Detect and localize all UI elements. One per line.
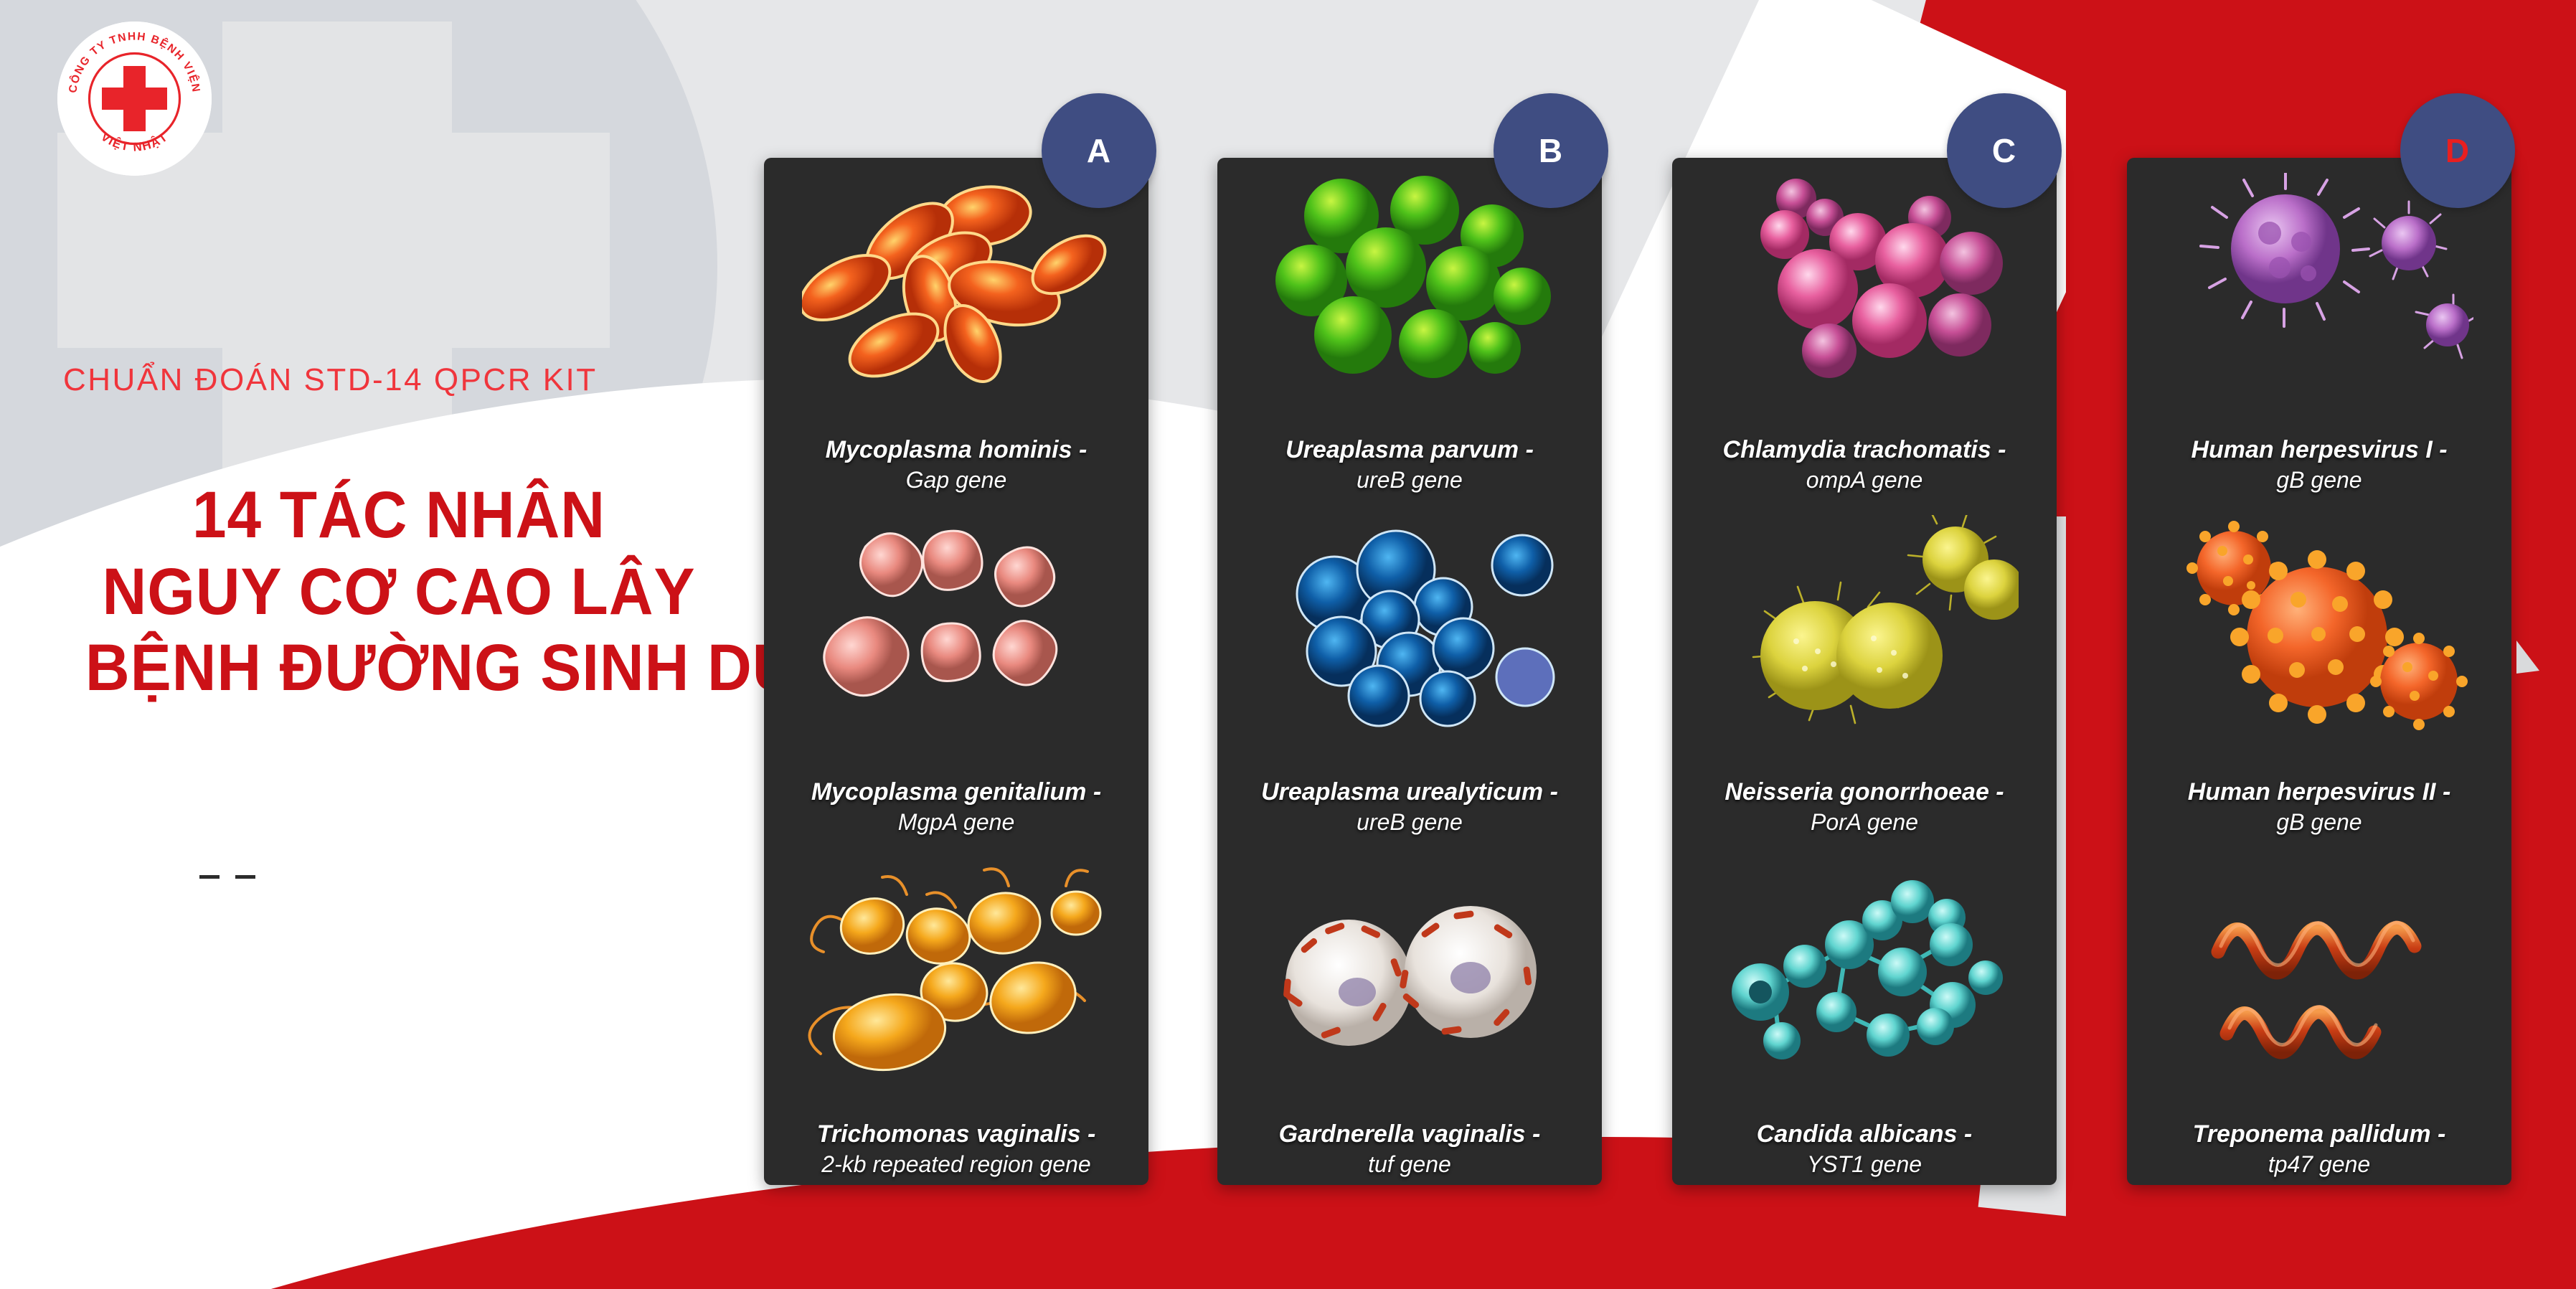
- pathogen-caption: Gardnerella vaginalis - tuf gene: [1279, 1119, 1541, 1179]
- spirochete-red-icon: [2127, 846, 2511, 1083]
- species-name: Neisseria gonorrhoeae -: [1725, 777, 2004, 808]
- species-name: Ureaplasma parvum -: [1285, 435, 1534, 466]
- species-name: Human herpesvirus I -: [2191, 435, 2447, 466]
- species-name: Mycoplasma hominis -: [826, 435, 1088, 466]
- flagellate-yellow-icon: [764, 846, 1148, 1083]
- pathogen-panel-b: Ureaplasma parvum - ureB gene: [1217, 158, 1602, 1185]
- gene-name: YST1 gene: [1757, 1150, 1972, 1179]
- pathogen-cell: Human herpesvirus II - gB gene: [2127, 500, 2511, 842]
- species-name: Treponema pallidum -: [2193, 1119, 2446, 1150]
- pathogen-caption: Ureaplasma parvum - ureB gene: [1285, 435, 1534, 494]
- gene-name: gB gene: [2188, 808, 2451, 836]
- pathogen-panel-c: Chlamydia trachomatis - ompA gene: [1672, 158, 2057, 1185]
- panel-badge-b[interactable]: B: [1494, 93, 1608, 208]
- gene-name: MgpA gene: [811, 808, 1101, 836]
- gene-name: gB gene: [2191, 466, 2447, 494]
- gene-name: ureB gene: [1285, 466, 1534, 494]
- pathogen-cell: Mycoplasma hominis - Gap gene: [764, 158, 1148, 500]
- banner-root: CÔNG TY TNHH BỆNH VIỆN VIỆT NHẬT CHUẨN Đ…: [0, 0, 2576, 1289]
- kit-subtitle: CHUẨN ĐOÁN STD-14 QPCR KIT: [63, 362, 598, 398]
- gene-name: ompA gene: [1723, 466, 2006, 494]
- diplococci-yellow-icon: [1672, 504, 2057, 741]
- pathogen-caption: Ureaplasma urealyticum - ureB gene: [1261, 777, 1558, 836]
- species-name: Trichomonas vaginalis -: [817, 1119, 1096, 1150]
- divider-dashes: [199, 875, 255, 879]
- gene-name: PorA gene: [1725, 808, 2004, 836]
- pathogen-cell: Neisseria gonorrhoeae - PorA gene: [1672, 500, 2057, 842]
- gene-name: 2-kb repeated region gene: [817, 1150, 1096, 1179]
- species-name: Chlamydia trachomatis -: [1723, 435, 2006, 466]
- pathogen-cell: Candida albicans - YST1 gene: [1672, 842, 2057, 1184]
- species-name: Human herpesvirus II -: [2188, 777, 2451, 808]
- species-name: Mycoplasma genitalium -: [811, 777, 1101, 808]
- pathogen-caption: Human herpesvirus II - gB gene: [2188, 777, 2451, 836]
- headline-line-1: 14 TÁC NHÂN: [85, 477, 712, 554]
- gene-name: tp47 gene: [2193, 1150, 2446, 1179]
- species-name: Ureaplasma urealyticum -: [1261, 777, 1558, 808]
- pathogen-caption: Human herpesvirus I - gB gene: [2191, 435, 2447, 494]
- pathogen-panel-a: Mycoplasma hominis - Gap gene: [764, 158, 1148, 1185]
- panel-badge-c[interactable]: C: [1947, 93, 2062, 208]
- flask-pink-icon: [764, 504, 1148, 741]
- headline-line-2: NGUY CƠ CAO LÂY: [85, 554, 712, 631]
- pathogen-caption: Mycoplasma genitalium - MgpA gene: [811, 777, 1101, 836]
- pathogen-caption: Trichomonas vaginalis - 2-kb repeated re…: [817, 1119, 1096, 1179]
- panel-badge-d[interactable]: D: [2400, 93, 2515, 208]
- pathogen-cell: Mycoplasma genitalium - MgpA gene: [764, 500, 1148, 842]
- pathogen-panel-d: Human herpesvirus I - gB gene: [2127, 158, 2511, 1185]
- pathogen-caption: Mycoplasma hominis - Gap gene: [826, 435, 1088, 494]
- pathogen-caption: Neisseria gonorrhoeae - PorA gene: [1725, 777, 2004, 836]
- page-title: 14 TÁC NHÂN NGUY CƠ CAO LÂY BỆNH ĐƯỜNG S…: [62, 477, 736, 707]
- gene-name: tuf gene: [1279, 1150, 1541, 1179]
- pathogen-cell: Ureaplasma urealyticum - ureB gene: [1217, 500, 1602, 842]
- pathogen-cell: Treponema pallidum - tp47 gene: [2127, 842, 2511, 1184]
- headline-line-3: BỆNH ĐƯỜNG SINH DỤC: [85, 630, 712, 707]
- gene-name: Gap gene: [826, 466, 1088, 494]
- pathogen-caption: Chlamydia trachomatis - ompA gene: [1723, 435, 2006, 494]
- species-name: Candida albicans -: [1757, 1119, 1972, 1150]
- edge-arrow-icon: [2516, 641, 2539, 674]
- pathogen-caption: Candida albicans - YST1 gene: [1757, 1119, 1972, 1179]
- pathogen-cell: Ureaplasma parvum - ureB gene: [1217, 158, 1602, 500]
- panel-badge-a[interactable]: A: [1042, 93, 1156, 208]
- hyphae-cyan-icon: [1672, 846, 2057, 1083]
- pathogen-caption: Treponema pallidum - tp47 gene: [2193, 1119, 2446, 1179]
- pathogen-cell: Human herpesvirus I - gB gene: [2127, 158, 2511, 500]
- clue-cells-icon: [1217, 846, 1602, 1083]
- virion-orange-icon: [2127, 504, 2511, 741]
- gene-name: ureB gene: [1261, 808, 1558, 836]
- company-logo: CÔNG TY TNHH BỆNH VIỆN VIỆT NHẬT: [57, 22, 212, 176]
- pathogen-cell: Trichomonas vaginalis - 2-kb repeated re…: [764, 842, 1148, 1184]
- cocci-blue-icon: [1217, 504, 1602, 741]
- pathogen-cell: Chlamydia trachomatis - ompA gene: [1672, 158, 2057, 500]
- pathogen-cell: Gardnerella vaginalis - tuf gene: [1217, 842, 1602, 1184]
- species-name: Gardnerella vaginalis -: [1279, 1119, 1541, 1150]
